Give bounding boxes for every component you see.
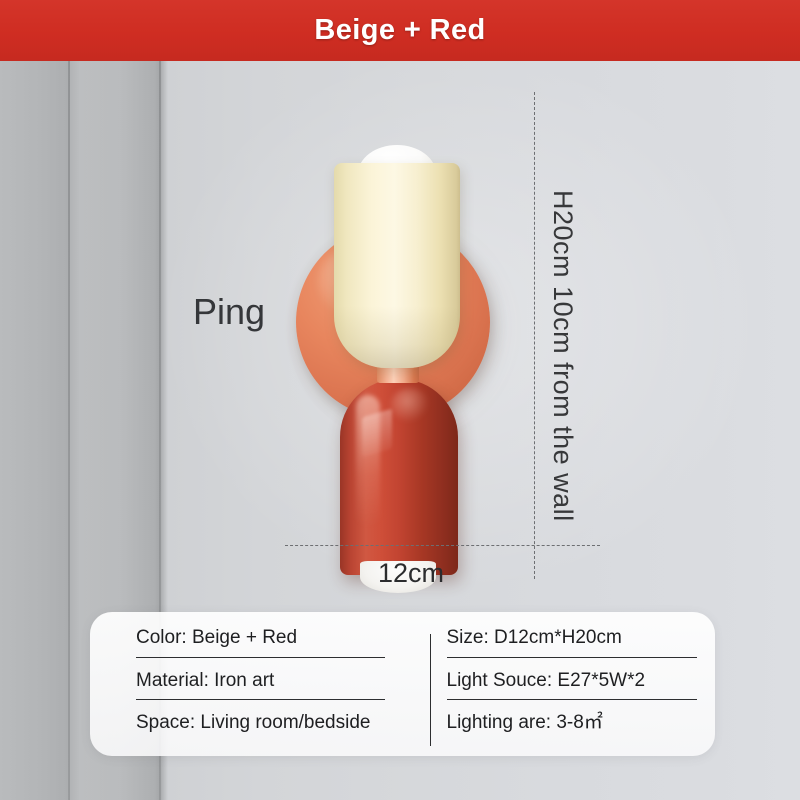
red-shade-window-reflection [362,409,392,458]
vertical-dimension-guide [534,92,535,579]
spec-row-light-source: Light Souce: E27*5W*2 [447,669,698,701]
spec-row-lighting-area: Lighting are: 3-8㎡ [447,711,698,742]
horizontal-dimension-guide [285,545,600,546]
height-depth-dimension-label: H20cm 10cm from the wall [546,190,578,522]
orange-wall-plate [296,225,490,419]
spec-column-right: Size: D12cm*H20cm Light Souce: E27*5W*2 … [403,612,716,756]
banner-title: Beige + Red [314,14,485,47]
red-shade-top-highlight [391,388,429,422]
spec-row-size: Size: D12cm*H20cm [447,626,698,658]
connector-tube [377,329,419,383]
height-dimension-text: H20cm [548,190,578,278]
spec-column-left: Color: Beige + Red Material: Iron art Sp… [90,612,403,756]
beige-shade-bottom-shading [334,306,460,368]
wall-plate-highlight [318,243,414,321]
brand-label: Ping [193,291,265,333]
specification-card: Color: Beige + Red Material: Iron art Sp… [90,612,715,756]
spec-row-material: Material: Iron art [136,669,385,701]
beige-upper-shade [334,163,460,368]
width-dimension-label: 12cm [378,558,444,589]
spec-row-color: Color: Beige + Red [136,626,385,658]
spec-row-space: Space: Living room/bedside [136,711,385,742]
color-variant-banner: Beige + Red [0,0,800,61]
upper-bulb [358,145,436,203]
depth-dimension-text: 10cm from the wall [548,286,578,522]
wall-seam-line-left [68,61,70,800]
red-shade-gloss-highlight [356,395,380,527]
spec-column-divider [430,634,431,746]
wall-plate-shadow [308,233,504,429]
product-detail-image: Beige + Red Ping 12cm H20cm 10cm from [0,0,800,800]
